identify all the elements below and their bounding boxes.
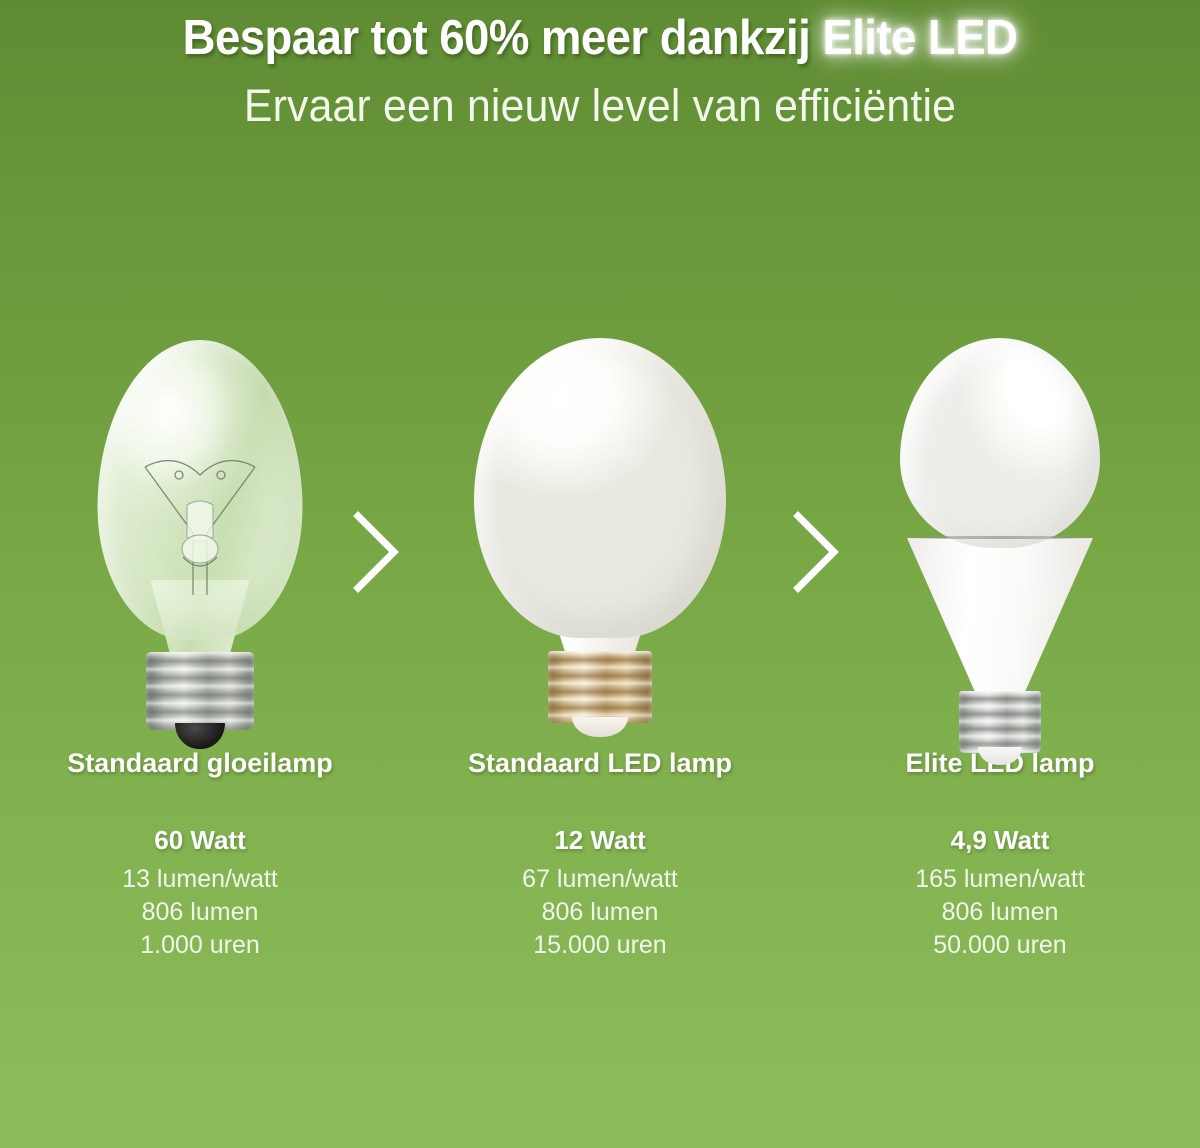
spec-lumen: 806 lumen: [800, 896, 1200, 929]
spec-lifetime: 50.000 uren: [800, 929, 1200, 962]
bulb-name-label: Standaard gloeilamp: [0, 748, 400, 779]
filament-icon: [135, 445, 265, 610]
bulb-image-area: [800, 300, 1200, 730]
spec-lifetime: 1.000 uren: [0, 929, 400, 962]
spec-lumen: 806 lumen: [0, 896, 400, 929]
incandescent-bulb-icon: [85, 340, 315, 730]
bulb-glass: [474, 338, 726, 638]
bulb-body: [907, 538, 1093, 698]
bulb-contact-tip: [175, 723, 225, 749]
bulb-screw-base: [146, 652, 254, 730]
bulb-name-label: Standaard LED lamp: [400, 748, 800, 779]
promo-banner: Bespaar tot 60% meer dankzij Elite LED E…: [0, 0, 1200, 1148]
bulb-screw-base: [959, 691, 1041, 753]
bulb-screw-base: [548, 651, 652, 723]
standard-led-bulb-icon: [465, 338, 735, 730]
bulb-seam-line: [907, 536, 1093, 539]
column-standaard-gloeilamp: Standaard gloeilamp 60 Watt 13 lumen/wat…: [0, 300, 400, 1000]
spec-efficacy: 165 lumen/watt: [800, 863, 1200, 896]
bulb-glass: [900, 338, 1100, 548]
spec-watt: 60 Watt: [0, 825, 400, 856]
spec-watt: 12 Watt: [400, 825, 800, 856]
subheadline: Ervaar een nieuw level van efficiëntie: [30, 80, 1170, 132]
spec-efficacy: 67 lumen/watt: [400, 863, 800, 896]
spec-efficacy: 13 lumen/watt: [0, 863, 400, 896]
bulb-image-area: [400, 300, 800, 730]
spec-list: 4,9 Watt 165 lumen/watt 806 lumen 50.000…: [800, 825, 1200, 962]
bulb-contact-tip: [572, 717, 628, 737]
spec-list: 12 Watt 67 lumen/watt 806 lumen 15.000 u…: [400, 825, 800, 962]
spec-lifetime: 15.000 uren: [400, 929, 800, 962]
spec-list: 60 Watt 13 lumen/watt 806 lumen 1.000 ur…: [0, 825, 400, 962]
headline-brand-text: Elite LED: [822, 11, 1017, 65]
column-standaard-led-lamp: Standaard LED lamp 12 Watt 67 lumen/watt…: [400, 300, 800, 1000]
headline: Bespaar tot 60% meer dankzij Elite LED: [42, 10, 1158, 66]
banner-header: Bespaar tot 60% meer dankzij Elite LED E…: [0, 0, 1200, 132]
column-elite-led-lamp: Elite LED lamp 4,9 Watt 165 lumen/watt 8…: [800, 300, 1200, 1000]
spec-watt: 4,9 Watt: [800, 825, 1200, 856]
comparison-columns: Standaard gloeilamp 60 Watt 13 lumen/wat…: [0, 300, 1200, 1000]
bulb-image-area: [0, 300, 400, 730]
elite-led-bulb-icon: [890, 338, 1110, 730]
headline-main-text: Bespaar tot 60% meer dankzij: [183, 11, 823, 65]
spec-lumen: 806 lumen: [400, 896, 800, 929]
